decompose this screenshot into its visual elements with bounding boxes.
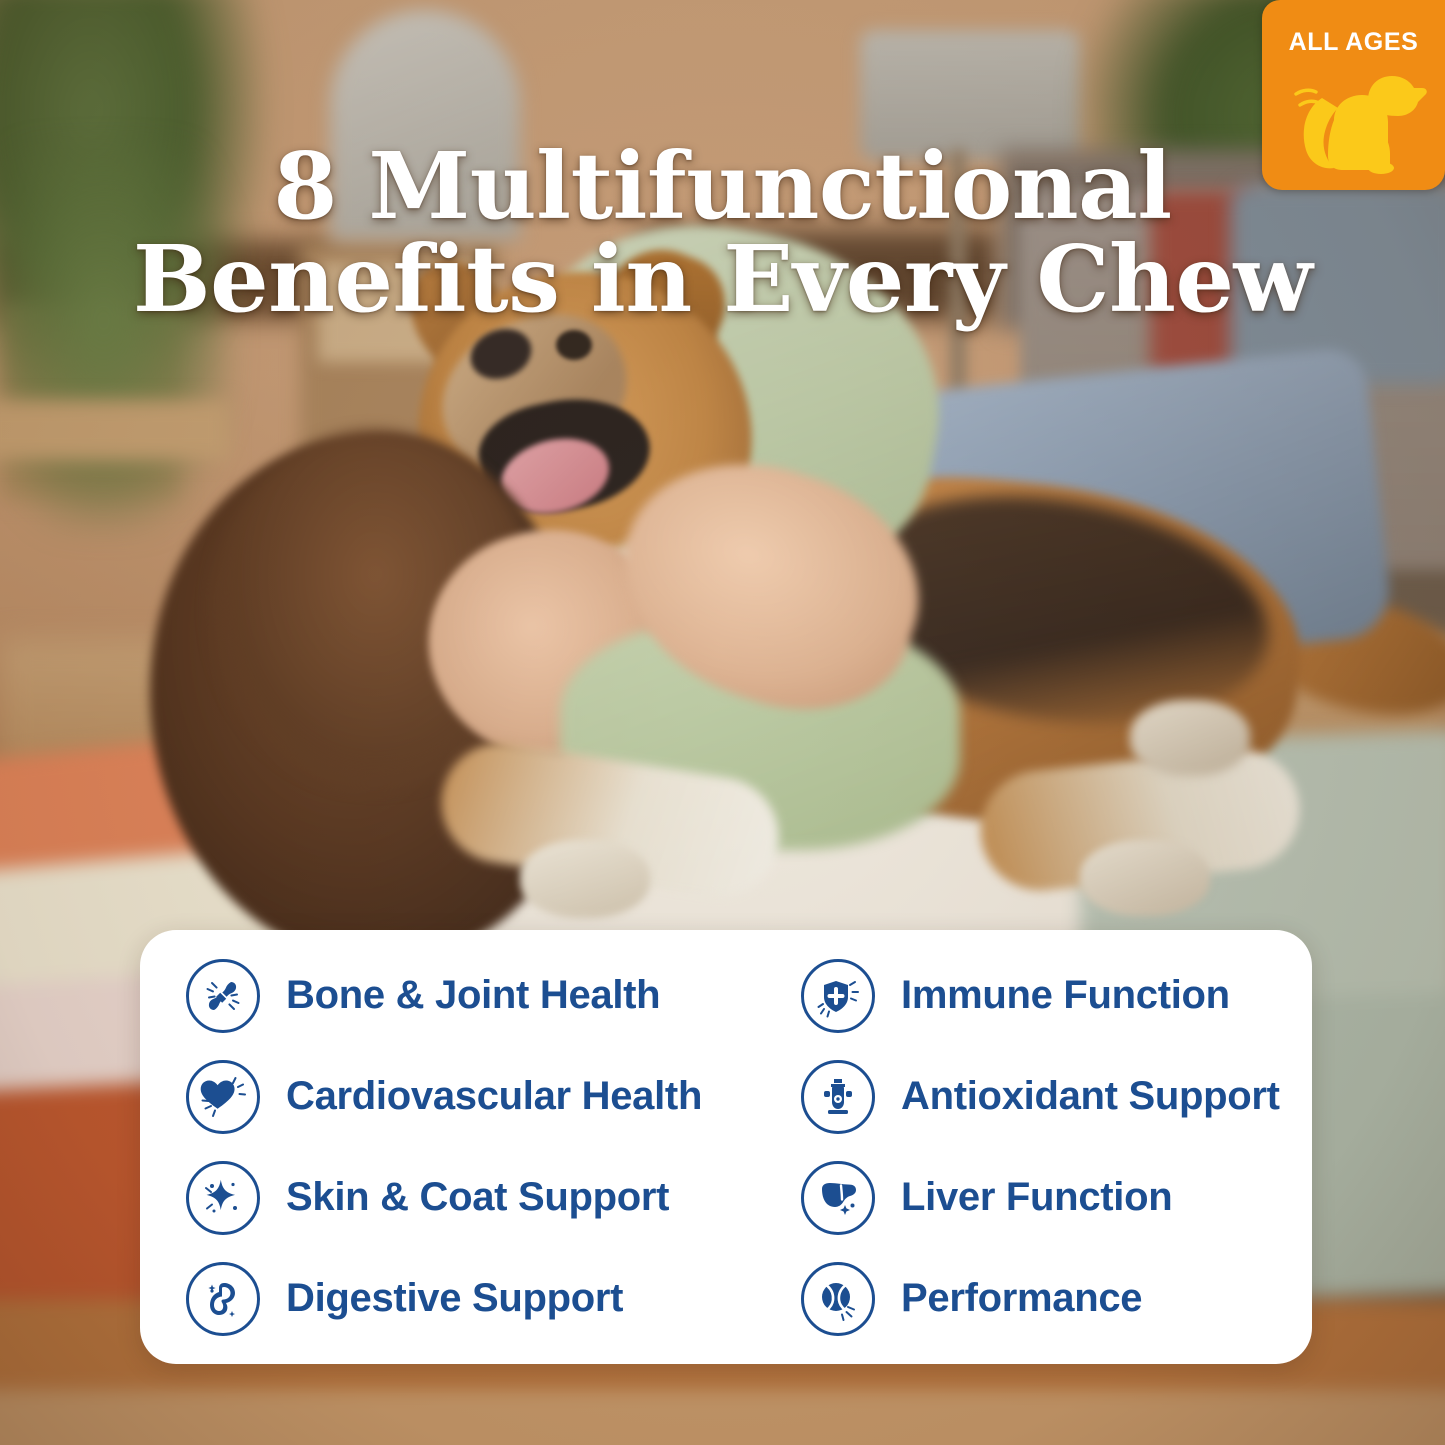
benefit-item-cardiovascular[interactable]: Cardiovascular Health <box>140 1060 726 1134</box>
benefit-row: Bone & Joint Health Immune Function <box>140 945 1312 1046</box>
sparkle-star-icon <box>186 1161 260 1235</box>
benefit-item-antioxidant[interactable]: Antioxidant Support <box>726 1060 1312 1134</box>
product-benefits-image: 8 Multifunctional Benefits in Every Chew… <box>0 0 1445 1445</box>
bone-joint-icon <box>186 959 260 1033</box>
benefit-label: Digestive Support <box>286 1276 623 1321</box>
benefit-item-skin-coat[interactable]: Skin & Coat Support <box>140 1161 726 1235</box>
benefit-label: Cardiovascular Health <box>286 1074 702 1119</box>
page-title: 8 Multifunctional Benefits in Every Chew <box>0 140 1445 328</box>
benefits-card: Bone & Joint Health Immune Function <box>140 930 1312 1364</box>
benefit-label: Immune Function <box>901 973 1230 1018</box>
benefit-item-liver[interactable]: Liver Function <box>726 1161 1312 1235</box>
benefit-row: Digestive Support <box>140 1248 1312 1349</box>
tennis-ball-icon <box>801 1262 875 1336</box>
sitting-dog-icon <box>1280 62 1428 185</box>
all-ages-badge: ALL AGES <box>1262 0 1445 190</box>
shield-plus-icon <box>801 959 875 1033</box>
benefit-label: Skin & Coat Support <box>286 1175 669 1220</box>
stomach-icon <box>186 1262 260 1336</box>
benefit-label: Antioxidant Support <box>901 1074 1280 1119</box>
benefit-row: Cardiovascular Health <box>140 1046 1312 1147</box>
headline-line-2: Benefits in Every Chew <box>40 233 1405 327</box>
benefit-label: Performance <box>901 1276 1142 1321</box>
benefit-item-performance[interactable]: Performance <box>726 1262 1312 1336</box>
all-ages-label: ALL AGES <box>1262 28 1445 57</box>
benefit-item-immune[interactable]: Immune Function <box>726 959 1312 1033</box>
benefit-row: Skin & Coat Support Liver Function <box>140 1147 1312 1248</box>
liver-icon <box>801 1161 875 1235</box>
heart-icon <box>186 1060 260 1134</box>
benefit-label: Liver Function <box>901 1175 1172 1220</box>
headline-line-1: 8 Multifunctional <box>40 140 1405 234</box>
benefit-item-digestive[interactable]: Digestive Support <box>140 1262 726 1336</box>
benefit-item-bone-joint[interactable]: Bone & Joint Health <box>140 959 726 1033</box>
benefit-label: Bone & Joint Health <box>286 973 660 1018</box>
fire-hydrant-icon <box>801 1060 875 1134</box>
